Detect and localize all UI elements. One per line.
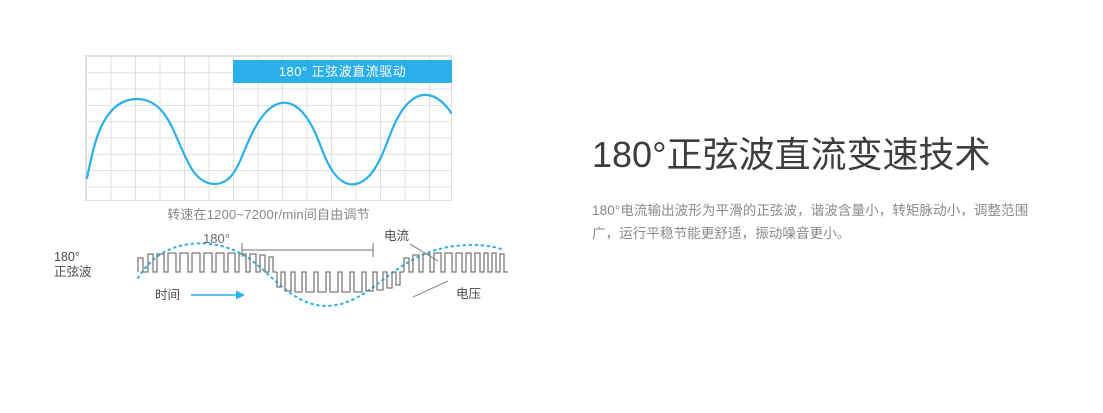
- chart-banner-label: 180° 正弦波直流驱动: [233, 60, 452, 83]
- feature-text-panel: 180°正弦波直流变速技术 180°电流输出波形为平滑的正弦波，谐波含量小，转矩…: [592, 133, 1052, 245]
- pwm-waveform-svg: [40, 225, 510, 325]
- feature-description: 180°电流输出波形为平滑的正弦波，谐波含量小，转矩脉动小，调整范围广，运行平稳…: [592, 199, 1044, 245]
- pwm-label-voltage: 电压: [456, 287, 481, 302]
- pwm-label-sine-wave: 180° 正弦波: [54, 250, 92, 280]
- page-root: 180° 正弦波直流驱动 转速在1200~7200r/min间自由调节: [0, 0, 1103, 413]
- chart-caption: 转速在1200~7200r/min间自由调节: [85, 204, 452, 223]
- pwm-label-time: 时间: [155, 288, 180, 303]
- voltage-pwm-pulses-second-half: [277, 272, 404, 292]
- pwm-label-sine-wave-line2: 正弦波: [54, 265, 92, 280]
- pwm-label-span-180: 180°: [203, 231, 230, 246]
- voltage-pwm-pulses-third-section: [404, 253, 508, 272]
- time-axis-arrow: [191, 291, 245, 300]
- pwm-label-sine-wave-line1: 180°: [54, 250, 92, 265]
- pwm-label-current: 电流: [384, 229, 409, 244]
- page-title: 180°正弦波直流变速技术: [592, 133, 1052, 177]
- pwm-waveform-diagram: 180° 正弦波 时间 180° 电流 电压: [40, 225, 510, 325]
- voltage-leader-line: [413, 281, 448, 297]
- sine-chart-panel: 180° 正弦波直流驱动: [85, 55, 452, 201]
